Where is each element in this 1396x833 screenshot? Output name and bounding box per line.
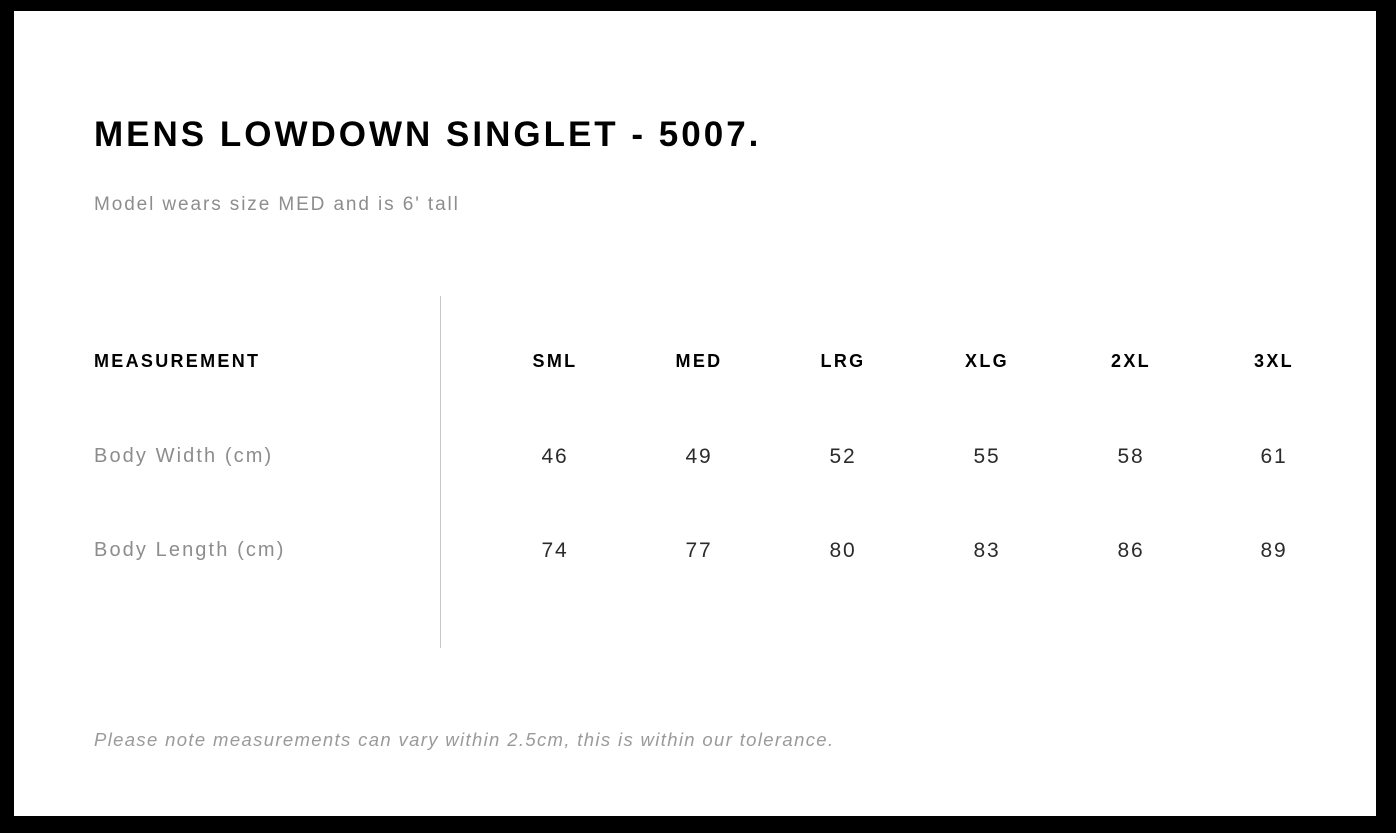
cell-body-length-lrg: 80 xyxy=(783,539,903,563)
cell-body-width-2xl: 58 xyxy=(1071,445,1191,469)
row-label-body-width: Body Width (cm) xyxy=(94,445,273,468)
cell-body-length-med: 77 xyxy=(639,539,759,563)
column-header-2xl: 2XL xyxy=(1071,351,1191,372)
table-row: Body Length (cm) 74 77 80 83 86 89 xyxy=(14,539,1376,633)
cell-body-width-lrg: 52 xyxy=(783,445,903,469)
cell-body-length-xlg: 83 xyxy=(927,539,1047,563)
cell-body-length-2xl: 86 xyxy=(1071,539,1191,563)
column-header-sml: SML xyxy=(495,351,615,372)
column-header-lrg: LRG xyxy=(783,351,903,372)
column-header-measurement: MEASUREMENT xyxy=(94,351,260,372)
tolerance-footnote: Please note measurements can vary within… xyxy=(94,729,834,751)
column-header-med: MED xyxy=(639,351,759,372)
cell-body-width-med: 49 xyxy=(639,445,759,469)
page-title: MENS LOWDOWN SINGLET - 5007. xyxy=(94,116,761,155)
column-header-3xl: 3XL xyxy=(1214,351,1334,372)
size-chart-sheet: MENS LOWDOWN SINGLET - 5007. Model wears… xyxy=(14,11,1376,816)
cell-body-width-3xl: 61 xyxy=(1214,445,1334,469)
page-border-frame: MENS LOWDOWN SINGLET - 5007. Model wears… xyxy=(0,0,1396,833)
table-header-row: MEASUREMENT SML MED LRG XLG 2XL 3XL xyxy=(14,351,1376,445)
model-info-subtitle: Model wears size MED and is 6' tall xyxy=(94,194,460,216)
cell-body-width-xlg: 55 xyxy=(927,445,1047,469)
column-header-xlg: XLG xyxy=(927,351,1047,372)
cell-body-width-sml: 46 xyxy=(495,445,615,469)
size-chart-table: MEASUREMENT SML MED LRG XLG 2XL 3XL Body… xyxy=(14,351,1376,633)
row-label-body-length: Body Length (cm) xyxy=(94,539,285,562)
cell-body-length-3xl: 89 xyxy=(1214,539,1334,563)
table-row: Body Width (cm) 46 49 52 55 58 61 xyxy=(14,445,1376,539)
cell-body-length-sml: 74 xyxy=(495,539,615,563)
